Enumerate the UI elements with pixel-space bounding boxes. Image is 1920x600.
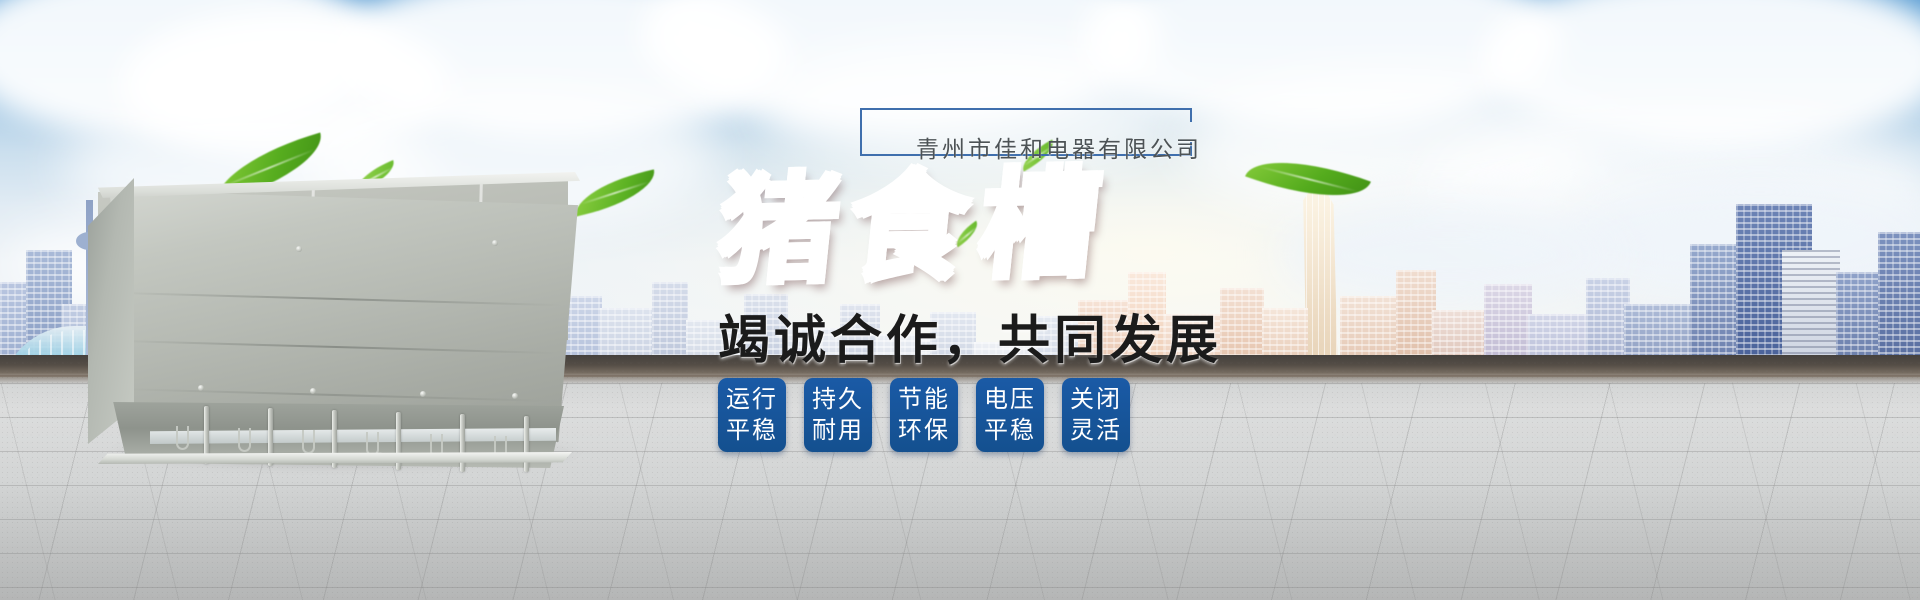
badge-line-1: 电压 [984,384,1036,415]
feature-badge-1[interactable]: 运行 平稳 [718,378,786,452]
badge-line-1: 持久 [812,384,864,415]
main-title: 猪食槽 [713,156,1328,299]
drinking-nipple [238,428,251,452]
badge-line-1: 关闭 [1070,384,1122,415]
drinking-nipple [176,426,189,450]
drinking-nipple [366,432,379,456]
feature-badge-4[interactable]: 电压 平稳 [976,378,1044,452]
badge-line-1: 节能 [898,384,950,415]
badge-line-2: 平稳 [984,415,1036,446]
trough-base-rail [98,452,572,464]
trough-rivet [310,388,316,394]
trough-rivet [198,385,204,391]
badge-line-2: 灵活 [1070,415,1122,446]
product-banner: 青州市佳和电器有限公司 猪食槽 猪食槽 竭诚合作，共同发展 运行 平稳 持久 耐… [0,0,1920,600]
trough-rivet [512,393,518,399]
pig-feeding-trough-product [80,160,600,470]
trough-rivet [296,246,302,252]
subtitle: 竭诚合作，共同发展 [718,298,1222,373]
divider-bar [460,414,465,472]
feature-badge-2[interactable]: 持久 耐用 [804,378,872,452]
drinking-nipple [302,430,315,454]
divider-bar [524,416,529,472]
badge-line-1: 运行 [726,384,778,415]
trough-body [80,160,600,470]
trough-rivet [492,240,498,246]
badge-line-2: 平稳 [726,415,778,446]
trough-rivet [420,391,426,397]
badge-line-2: 环保 [898,415,950,446]
feature-badge-3[interactable]: 节能 环保 [890,378,958,452]
feature-badge-5[interactable]: 关闭 灵活 [1062,378,1130,452]
feature-badge-list: 运行 平稳 持久 耐用 节能 环保 电压 平稳 关闭 灵活 [718,378,1130,452]
banner-copy: 青州市佳和电器有限公司 猪食槽 猪食槽 竭诚合作，共同发展 运行 平稳 持久 耐… [700,100,1460,560]
badge-line-2: 耐用 [812,415,864,446]
